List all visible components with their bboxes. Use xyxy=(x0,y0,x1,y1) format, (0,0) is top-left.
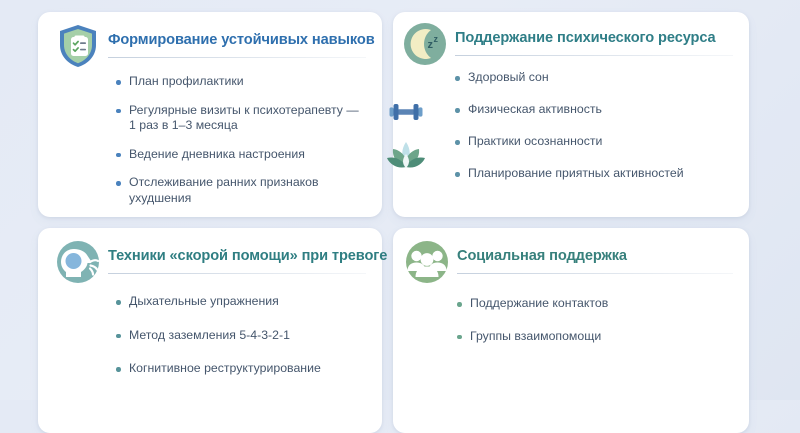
list-item: Метод заземления 5-4-3-2-1 xyxy=(116,328,366,344)
people-group-icon xyxy=(403,238,451,286)
card-bullet-list: План профилактики Регулярные визиты к пс… xyxy=(38,64,382,206)
card-title: Техники «скорой помощи» при тревоге xyxy=(108,248,368,264)
card-title: Социальная поддержка xyxy=(457,248,735,264)
moon-sleep-icon: z z xyxy=(401,20,449,68)
list-item: Отслеживание ранних признаков ухудшения xyxy=(116,175,366,206)
head-breathing-icon xyxy=(54,238,102,286)
list-item: Ведение дневника настроения xyxy=(116,147,366,163)
svg-text:z: z xyxy=(434,34,439,44)
list-item: Когнитивное реструктурирование xyxy=(116,361,366,377)
card-bullet-list: Здоровый сон Физическая активность Практ… xyxy=(393,60,749,182)
list-item: Дыхательные упражнения xyxy=(116,294,366,310)
card-header: z z Поддержание психического ресурса xyxy=(393,12,749,60)
card-bullet-list: Поддержание контактов Группы взаимопомощ… xyxy=(393,280,749,344)
title-divider xyxy=(455,55,733,56)
title-divider xyxy=(108,57,366,58)
card-title: Поддержание психического ресурса xyxy=(455,30,735,46)
card-title: Формирование устойчивых навыков xyxy=(108,32,368,48)
title-divider xyxy=(108,273,366,274)
infographic-board: Формирование устойчивых навыков План про… xyxy=(0,0,800,400)
dumbbell-icon xyxy=(385,95,427,129)
card-emergency-techniques[interactable]: Техники «скорой помощи» при тревоге Дыха… xyxy=(38,228,382,433)
card-mental-resource[interactable]: z z Поддержание психического ресурса xyxy=(393,12,749,217)
list-item: Регулярные визиты к психотерапевту — 1 р… xyxy=(116,103,366,134)
card-social-support[interactable]: Социальная поддержка Поддержание контакт… xyxy=(393,228,749,433)
card-header: Социальная поддержка xyxy=(393,228,749,280)
list-item: Группы взаимопомощи xyxy=(457,329,733,345)
list-item: Планирование приятных активностей xyxy=(455,166,733,182)
card-bullet-list: Дыхательные упражнения Метод заземления … xyxy=(38,280,382,377)
card-grid: Формирование устойчивых навыков План про… xyxy=(38,12,748,433)
list-item: Поддержание контактов xyxy=(457,296,733,312)
list-item: Здоровый сон xyxy=(455,70,733,86)
lotus-icon xyxy=(385,136,427,176)
card-header: Техники «скорой помощи» при тревоге xyxy=(38,228,382,280)
card-skills[interactable]: Формирование устойчивых навыков План про… xyxy=(38,12,382,217)
title-divider xyxy=(457,273,733,274)
list-item: Физическая активность xyxy=(455,102,733,118)
card-header: Формирование устойчивых навыков xyxy=(38,12,382,64)
list-item: Практики осознанности xyxy=(455,134,733,150)
list-item: План профилактики xyxy=(116,74,366,90)
shield-checklist-icon xyxy=(54,22,102,70)
